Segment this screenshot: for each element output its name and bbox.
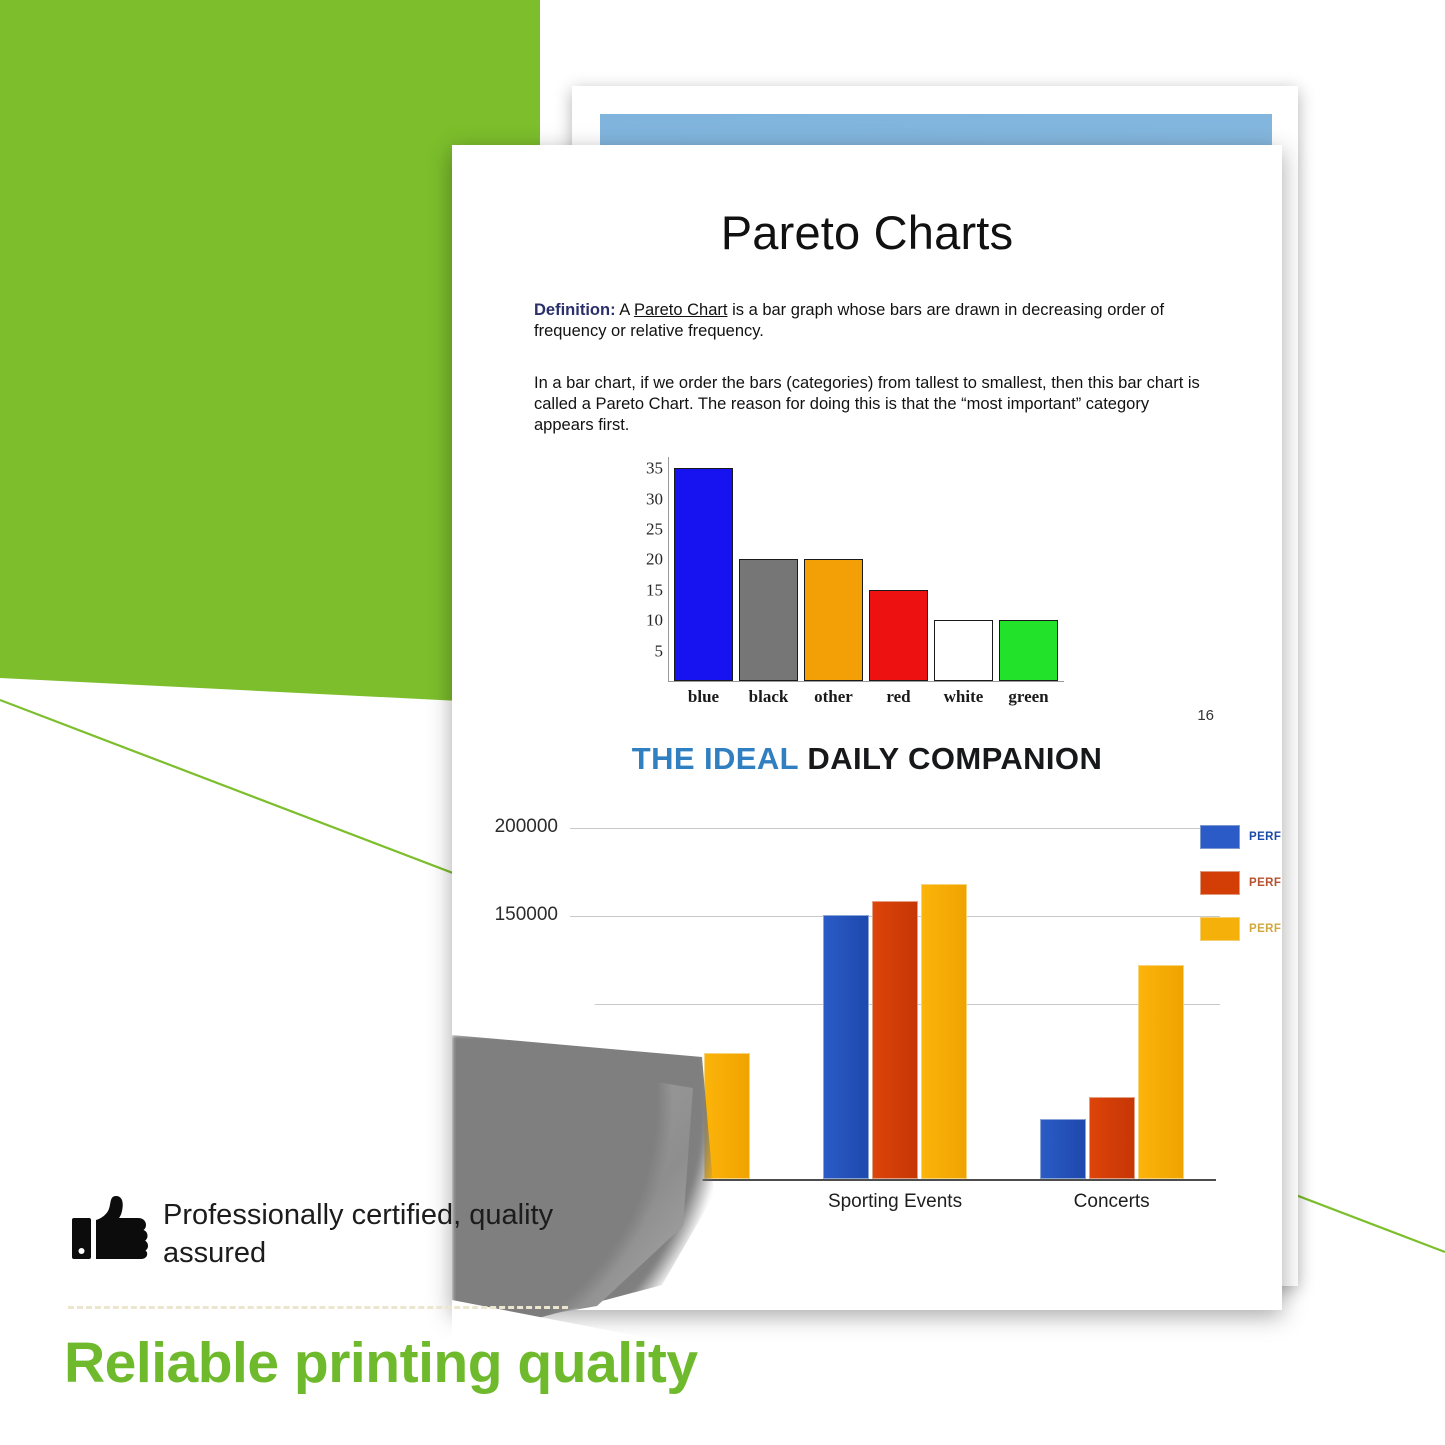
slide-page-number: 16 bbox=[1197, 707, 1214, 724]
companion-y-tick: 100000 bbox=[495, 992, 558, 1014]
second-slide-title-blue: THE IDEAL bbox=[632, 741, 799, 776]
footer-divider bbox=[68, 1306, 568, 1309]
poster-headline: Reliable printing quality bbox=[64, 1330, 698, 1396]
companion-category-label: Concerts bbox=[1003, 1191, 1220, 1213]
pareto-category-label: red bbox=[869, 687, 928, 707]
companion-bar bbox=[872, 901, 918, 1179]
definition-label: Definition: bbox=[534, 301, 616, 319]
companion-y-tick: 150000 bbox=[495, 904, 558, 926]
companion-legend-item: PERFECT bbox=[1200, 871, 1282, 895]
companion-y-tick: 200000 bbox=[495, 815, 558, 837]
body-paragraph: In a bar chart, if we order the bars (ca… bbox=[534, 373, 1200, 436]
pareto-category-label: other bbox=[804, 687, 863, 707]
companion-bar-group: Sporting Events bbox=[787, 801, 1004, 1179]
companion-baseline bbox=[566, 1179, 1216, 1181]
companion-legend-label: PERFECT bbox=[1249, 923, 1282, 935]
pareto-y-tick: 5 bbox=[655, 641, 664, 661]
pareto-y-tick: 15 bbox=[646, 580, 663, 600]
companion-legend: PERFECTPERFECTPERFECT bbox=[1200, 825, 1282, 963]
companion-bar bbox=[921, 884, 967, 1179]
second-slide-title: THE IDEAL DAILY COMPANION bbox=[452, 741, 1282, 777]
definition-text-a: A bbox=[616, 301, 634, 319]
companion-bar bbox=[1138, 965, 1184, 1179]
pareto-y-tick: 25 bbox=[646, 520, 663, 540]
companion-legend-item: PERFECT bbox=[1200, 917, 1282, 941]
pareto-bar bbox=[999, 620, 1058, 681]
pareto-category-label: black bbox=[739, 687, 798, 707]
pareto-bar bbox=[674, 468, 733, 681]
pareto-y-tick: 35 bbox=[646, 459, 663, 479]
pareto-y-tick: 20 bbox=[646, 550, 663, 570]
companion-bar-chart: 100000150000200000 Sporting EventsConcer… bbox=[570, 801, 1220, 1181]
pareto-bar bbox=[869, 590, 928, 681]
pareto-bar bbox=[934, 620, 993, 681]
quality-tagline: Professionally certified, quality assure… bbox=[163, 1196, 633, 1272]
front-page-content: Pareto Charts Definition: A Pareto Chart… bbox=[452, 145, 1282, 1310]
companion-bar-groups: Sporting EventsConcerts bbox=[570, 801, 1220, 1179]
companion-legend-label: PERFECT bbox=[1249, 831, 1282, 843]
companion-bar bbox=[1089, 1097, 1135, 1179]
poster-canvas: Pareto Charts Definition: A Pareto Chart… bbox=[0, 0, 1445, 1445]
pareto-bars bbox=[674, 457, 1058, 681]
companion-bar bbox=[823, 915, 869, 1179]
companion-legend-item: PERFECT bbox=[1200, 825, 1282, 849]
companion-legend-swatch bbox=[1200, 917, 1240, 941]
pareto-bar bbox=[804, 559, 863, 681]
pareto-y-axis bbox=[668, 457, 669, 682]
pareto-category-label: blue bbox=[674, 687, 733, 707]
second-slide-title-black: DAILY COMPANION bbox=[798, 741, 1102, 776]
companion-legend-swatch bbox=[1200, 825, 1240, 849]
companion-legend-swatch bbox=[1200, 871, 1240, 895]
companion-bar-group bbox=[570, 801, 787, 1179]
pareto-category-label: white bbox=[934, 687, 993, 707]
pareto-bar bbox=[739, 559, 798, 681]
pareto-y-tick: 30 bbox=[646, 489, 663, 509]
thumbs-up-icon bbox=[72, 1196, 150, 1260]
pareto-bar-chart: 5101520253035 blueblackotherredwhitegree… bbox=[668, 457, 1058, 682]
definition-paragraph: Definition: A Pareto Chart is a bar grap… bbox=[534, 300, 1200, 342]
companion-category-label: Sporting Events bbox=[787, 1191, 1004, 1213]
companion-bar bbox=[1040, 1119, 1086, 1179]
pareto-y-tick: 10 bbox=[646, 611, 663, 631]
front-page-sheet: Pareto Charts Definition: A Pareto Chart… bbox=[452, 145, 1282, 1310]
definition-term: Pareto Chart bbox=[634, 301, 728, 319]
pareto-x-axis bbox=[668, 681, 1064, 682]
companion-bar-group: Concerts bbox=[1003, 801, 1220, 1179]
companion-legend-label: PERFECT bbox=[1249, 877, 1282, 889]
pareto-category-label: green bbox=[999, 687, 1058, 707]
pareto-category-labels: blueblackotherredwhitegreen bbox=[674, 687, 1058, 707]
page-title: Pareto Charts bbox=[452, 205, 1282, 260]
companion-bar bbox=[704, 1053, 750, 1179]
